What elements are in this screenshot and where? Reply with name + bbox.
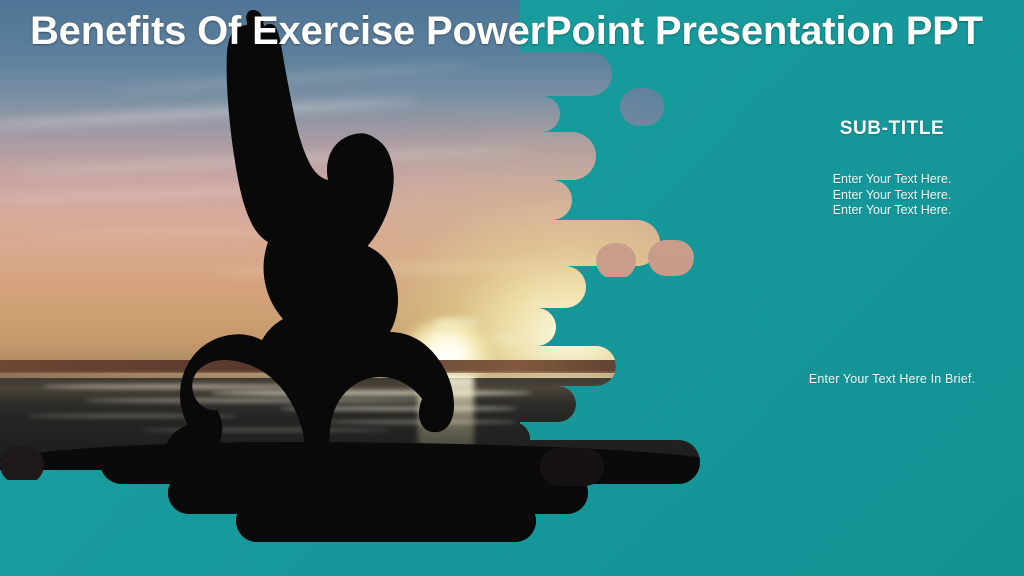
subtitle-heading: SUB-TITLE: [760, 118, 1024, 140]
body-text-line: Enter Your Text Here.: [760, 188, 1024, 204]
cloud-puff: [490, 334, 528, 344]
cloud-puff: [532, 300, 558, 308]
body-text-block: Enter Your Text Here. Enter Your Text He…: [760, 172, 1024, 219]
body-text-line: Enter Your Text Here.: [760, 172, 1024, 188]
collage-fragment: [0, 446, 44, 480]
body-text-line: Enter Your Text Here.: [760, 203, 1024, 219]
collage-fragment: [620, 88, 664, 126]
collage-fragment: [648, 240, 694, 276]
yoga-silhouette: [95, 10, 495, 510]
collage-fragment: [540, 448, 604, 486]
collage-fragment: [596, 243, 636, 277]
presentation-slide: Benefits Of Exercise PowerPoint Presenta…: [0, 0, 1024, 576]
brief-text: Enter Your Text Here In Brief.: [760, 372, 1024, 386]
page-title: Benefits Of Exercise PowerPoint Presenta…: [30, 8, 1005, 54]
